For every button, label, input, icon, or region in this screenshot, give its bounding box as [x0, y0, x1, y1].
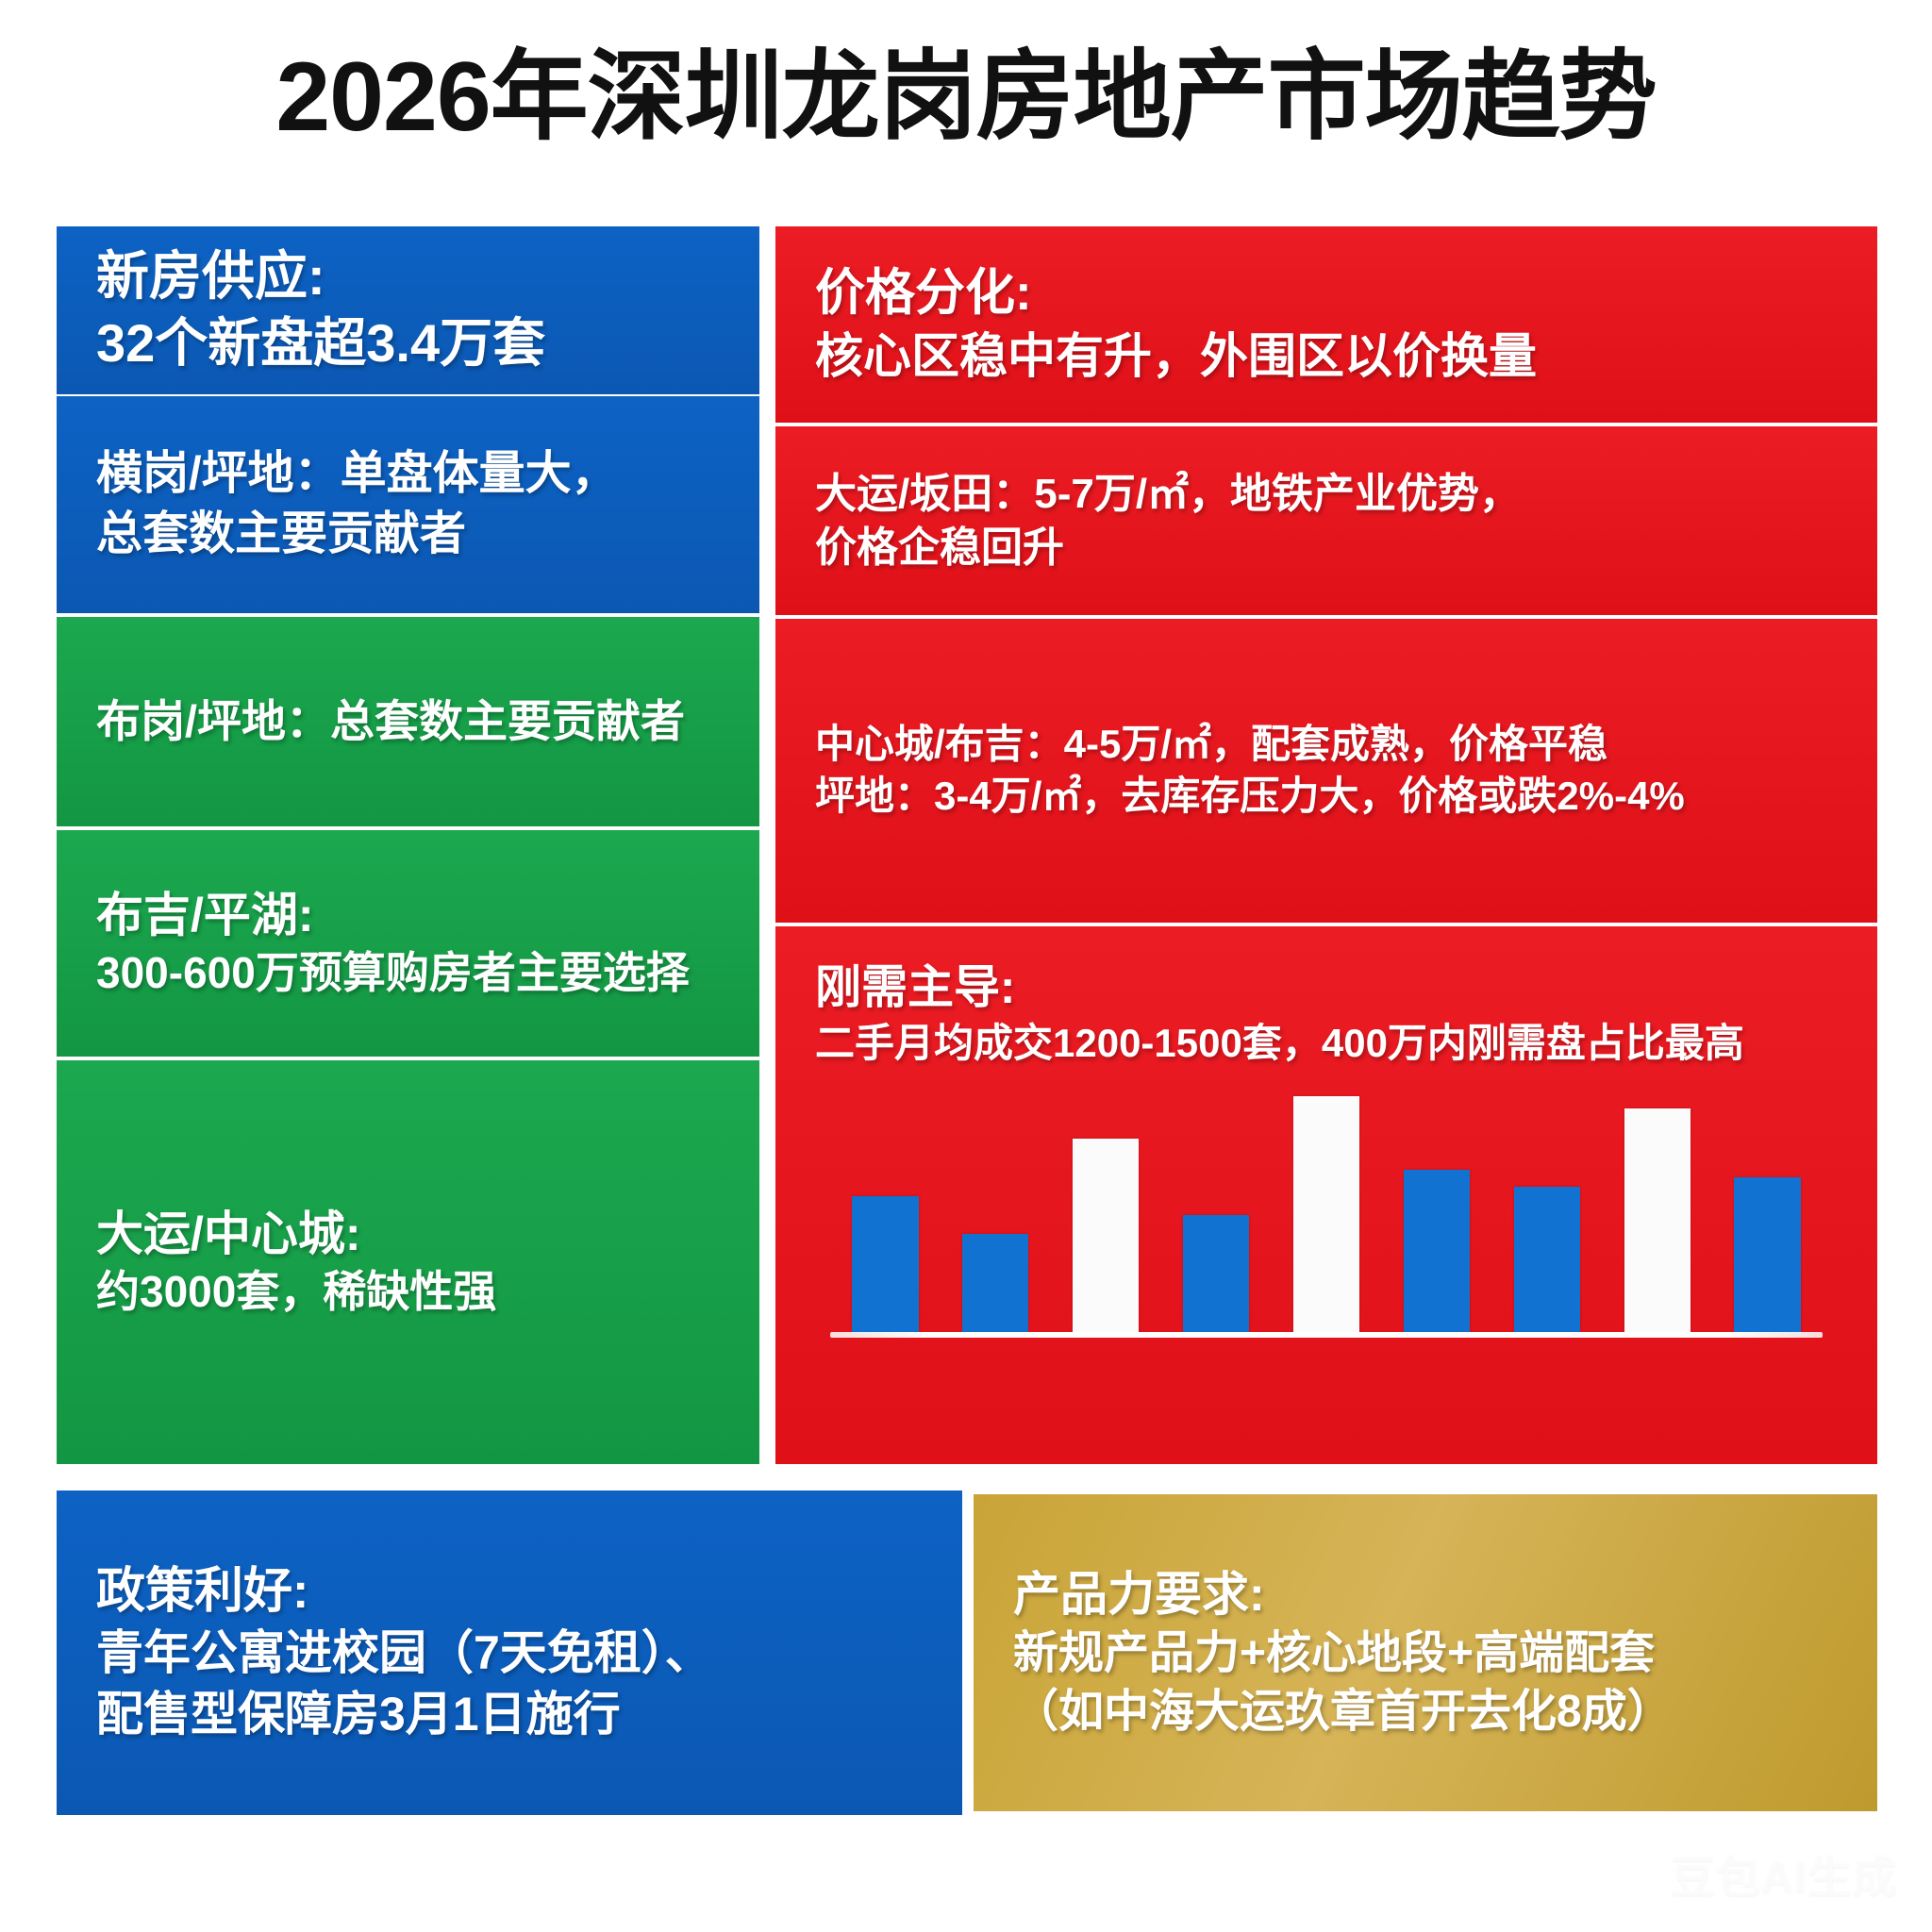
- card-dayun-bantian-price: 大运/坂田：5-7万/㎡，地铁产业优势， 价格企稳回升: [775, 426, 1877, 615]
- chart-bar: [1183, 1215, 1249, 1334]
- chart-bar: [1073, 1139, 1139, 1334]
- card-body-line2: 坪地：3-4万/㎡，去库存压力大，价格或跌2%-4%: [815, 771, 1838, 823]
- chart-baseline-axis: [830, 1332, 1823, 1338]
- card-buji-pinghu: 布吉/平湖: 300-600万预算购房者主要选择: [57, 830, 759, 1057]
- chart-bar: [962, 1234, 1028, 1334]
- card-body: 约3000套，稀缺性强: [96, 1264, 720, 1321]
- card-body: 32个新盘超3.4万套: [96, 309, 720, 378]
- infographic-page: 2026年深圳龙岗房地产市场趋势 新房供应: 32个新盘超3.4万套 横岗/坪地…: [0, 0, 1932, 1932]
- card-price-differentiation: 价格分化: 核心区稳中有升，外围区以价换量: [775, 226, 1877, 423]
- card-headline: 产品力要求:: [1013, 1564, 1838, 1624]
- transaction-bar-chart: [775, 1085, 1877, 1358]
- card-headline: 大运/中心城:: [96, 1204, 720, 1264]
- chart-bar: [852, 1196, 918, 1334]
- chart-bar: [1293, 1096, 1359, 1334]
- chart-bar: [1514, 1187, 1580, 1334]
- card-product-power: 产品力要求: 新规产品力+核心地段+高端配套 （如中海大运玖章首开去化8成）: [974, 1494, 1877, 1811]
- card-body-line1: 新规产品力+核心地段+高端配套: [1013, 1624, 1838, 1683]
- chart-plot-area: [830, 1096, 1823, 1334]
- card-body-line2: 配售型保障房3月1日施行: [96, 1684, 923, 1745]
- card-body-line2: （如中海大运玖章首开去化8成）: [1013, 1683, 1838, 1741]
- card-body: 二手月均成交1200-1500套，400万内刚需盘占比最高: [815, 1018, 1838, 1070]
- chart-bar: [1734, 1177, 1800, 1334]
- chart-bar: [1624, 1108, 1690, 1334]
- chart-bar: [1404, 1170, 1470, 1334]
- card-headline: 布吉/平湖:: [96, 885, 720, 945]
- card-body: 核心区稳中有升，外围区以价换量: [815, 325, 1838, 388]
- card-new-housing-supply: 新房供应: 32个新盘超3.4万套: [57, 226, 759, 394]
- watermark: 豆包AI生成: [1671, 1840, 1898, 1906]
- card-headline: 价格分化:: [815, 261, 1838, 325]
- card-dayun-zhongxincheng: 大运/中心城: 约3000套，稀缺性强: [57, 1060, 759, 1464]
- card-body-line1: 青年公寓进校园（7天免租）、: [96, 1623, 923, 1684]
- card-bugang-pingdi: 布岗/坪地：总套数主要贡献者: [57, 617, 759, 826]
- card-body-line2: 总套数主要贡献者: [96, 505, 720, 565]
- card-body: 布岗/坪地：总套数主要贡献者: [96, 692, 720, 750]
- page-title: 2026年深圳龙岗房地产市场趋势: [0, 42, 1932, 155]
- card-body-line2: 价格企稳回升: [815, 521, 1838, 575]
- card-headline: 政策利好:: [96, 1560, 923, 1624]
- card-zhongxincheng-buji-price: 中心城/布吉：4-5万/㎡，配套成熟，价格平稳 坪地：3-4万/㎡，去库存压力大…: [775, 619, 1877, 923]
- card-headline: 新房供应:: [96, 242, 720, 310]
- card-policy-benefits: 政策利好: 青年公寓进校园（7天免租）、 配售型保障房3月1日施行: [57, 1491, 962, 1815]
- card-body-line1: 大运/坂田：5-7万/㎡，地铁产业优势，: [815, 467, 1838, 521]
- card-headline: 刚需主导:: [815, 958, 1838, 1018]
- card-henggang-pingdi: 横岗/坪地：单盘体量大， 总套数主要贡献者: [57, 396, 759, 613]
- card-body-line1: 中心城/布吉：4-5万/㎡，配套成熟，价格平稳: [815, 719, 1838, 771]
- card-body-line1: 横岗/坪地：单盘体量大，: [96, 444, 720, 505]
- card-body: 300-600万预算购房者主要选择: [96, 945, 720, 1002]
